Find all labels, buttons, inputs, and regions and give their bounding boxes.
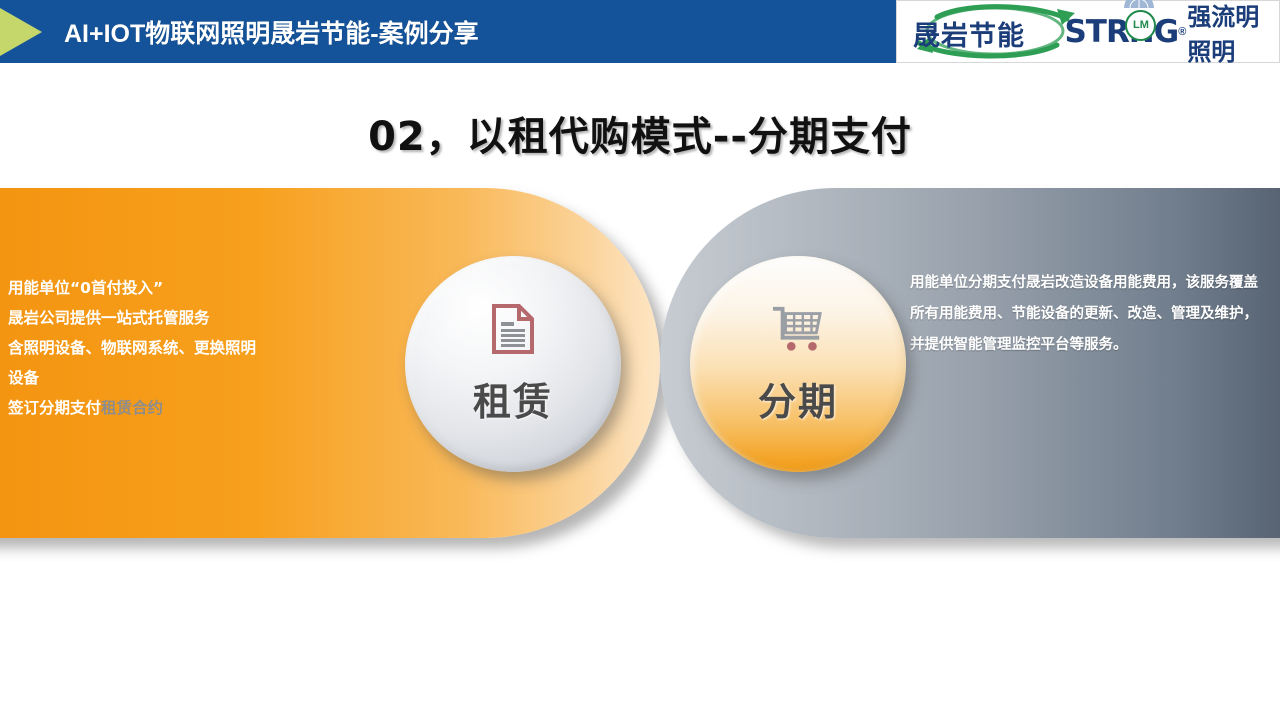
slide-header: AI+IOT物联网照明晟岩节能-案例分享 晟岩节能 STRNG: [0, 0, 1280, 63]
document-icon: [487, 303, 539, 355]
content-stage: 用能单位“0首付投入” 晟岩公司提供一站式托管服务 含照明设备、物联网系统、更换…: [0, 188, 1280, 548]
company-logo: 晟岩节能 STRNG LM ® 强流明照明: [896, 0, 1280, 63]
logo-strong-text: STRNG: [1064, 14, 1178, 50]
logo-cn-sub: 强流明照明: [1187, 0, 1279, 67]
right-panel-paragraph: 用能单位分期支付晟岩改造设备用能费用，该服务覆盖所有用能费用、节能设备的更新、改…: [910, 268, 1270, 361]
left-panel-text: 用能单位“0首付投入” 晟岩公司提供一站式托管服务 含照明设备、物联网系统、更换…: [8, 273, 338, 423]
slide-title: 02，以租代购模式--分期支付: [0, 104, 1280, 162]
left-panel-line-3: 含照明设备、物联网系统、更换照明: [8, 333, 338, 363]
logo-lm-badge: LM: [1125, 10, 1156, 41]
logo-cn-text: 晟岩节能: [913, 14, 1025, 53]
circle-rental-label: 租赁: [473, 371, 553, 426]
left-panel-line-4: 设备: [8, 363, 338, 393]
fan-icon: [1122, 0, 1156, 9]
registered-mark: ®: [1178, 26, 1186, 38]
circle-installment-label: 分期: [758, 371, 838, 426]
circle-rental[interactable]: 租赁: [405, 256, 621, 472]
logo-strong-wordmark: STRNG LM ® 强流明照明: [1064, 3, 1279, 61]
circle-installment[interactable]: 分期: [690, 256, 906, 472]
left-panel-line-5-white: 签订分期支付: [8, 399, 101, 417]
shopping-cart-icon: [772, 303, 824, 355]
logo-shengyan-jieneng: 晟岩节能: [907, 3, 1062, 61]
left-panel-line-5-grey: 租赁合约: [101, 399, 163, 417]
left-panel-line-1: 用能单位“0首付投入”: [8, 273, 338, 303]
left-panel-line-2: 晟岩公司提供一站式托管服务: [8, 303, 338, 333]
header-title: AI+IOT物联网照明晟岩节能-案例分享: [64, 0, 479, 63]
left-panel-line-5: 签订分期支付租赁合约: [8, 393, 338, 423]
